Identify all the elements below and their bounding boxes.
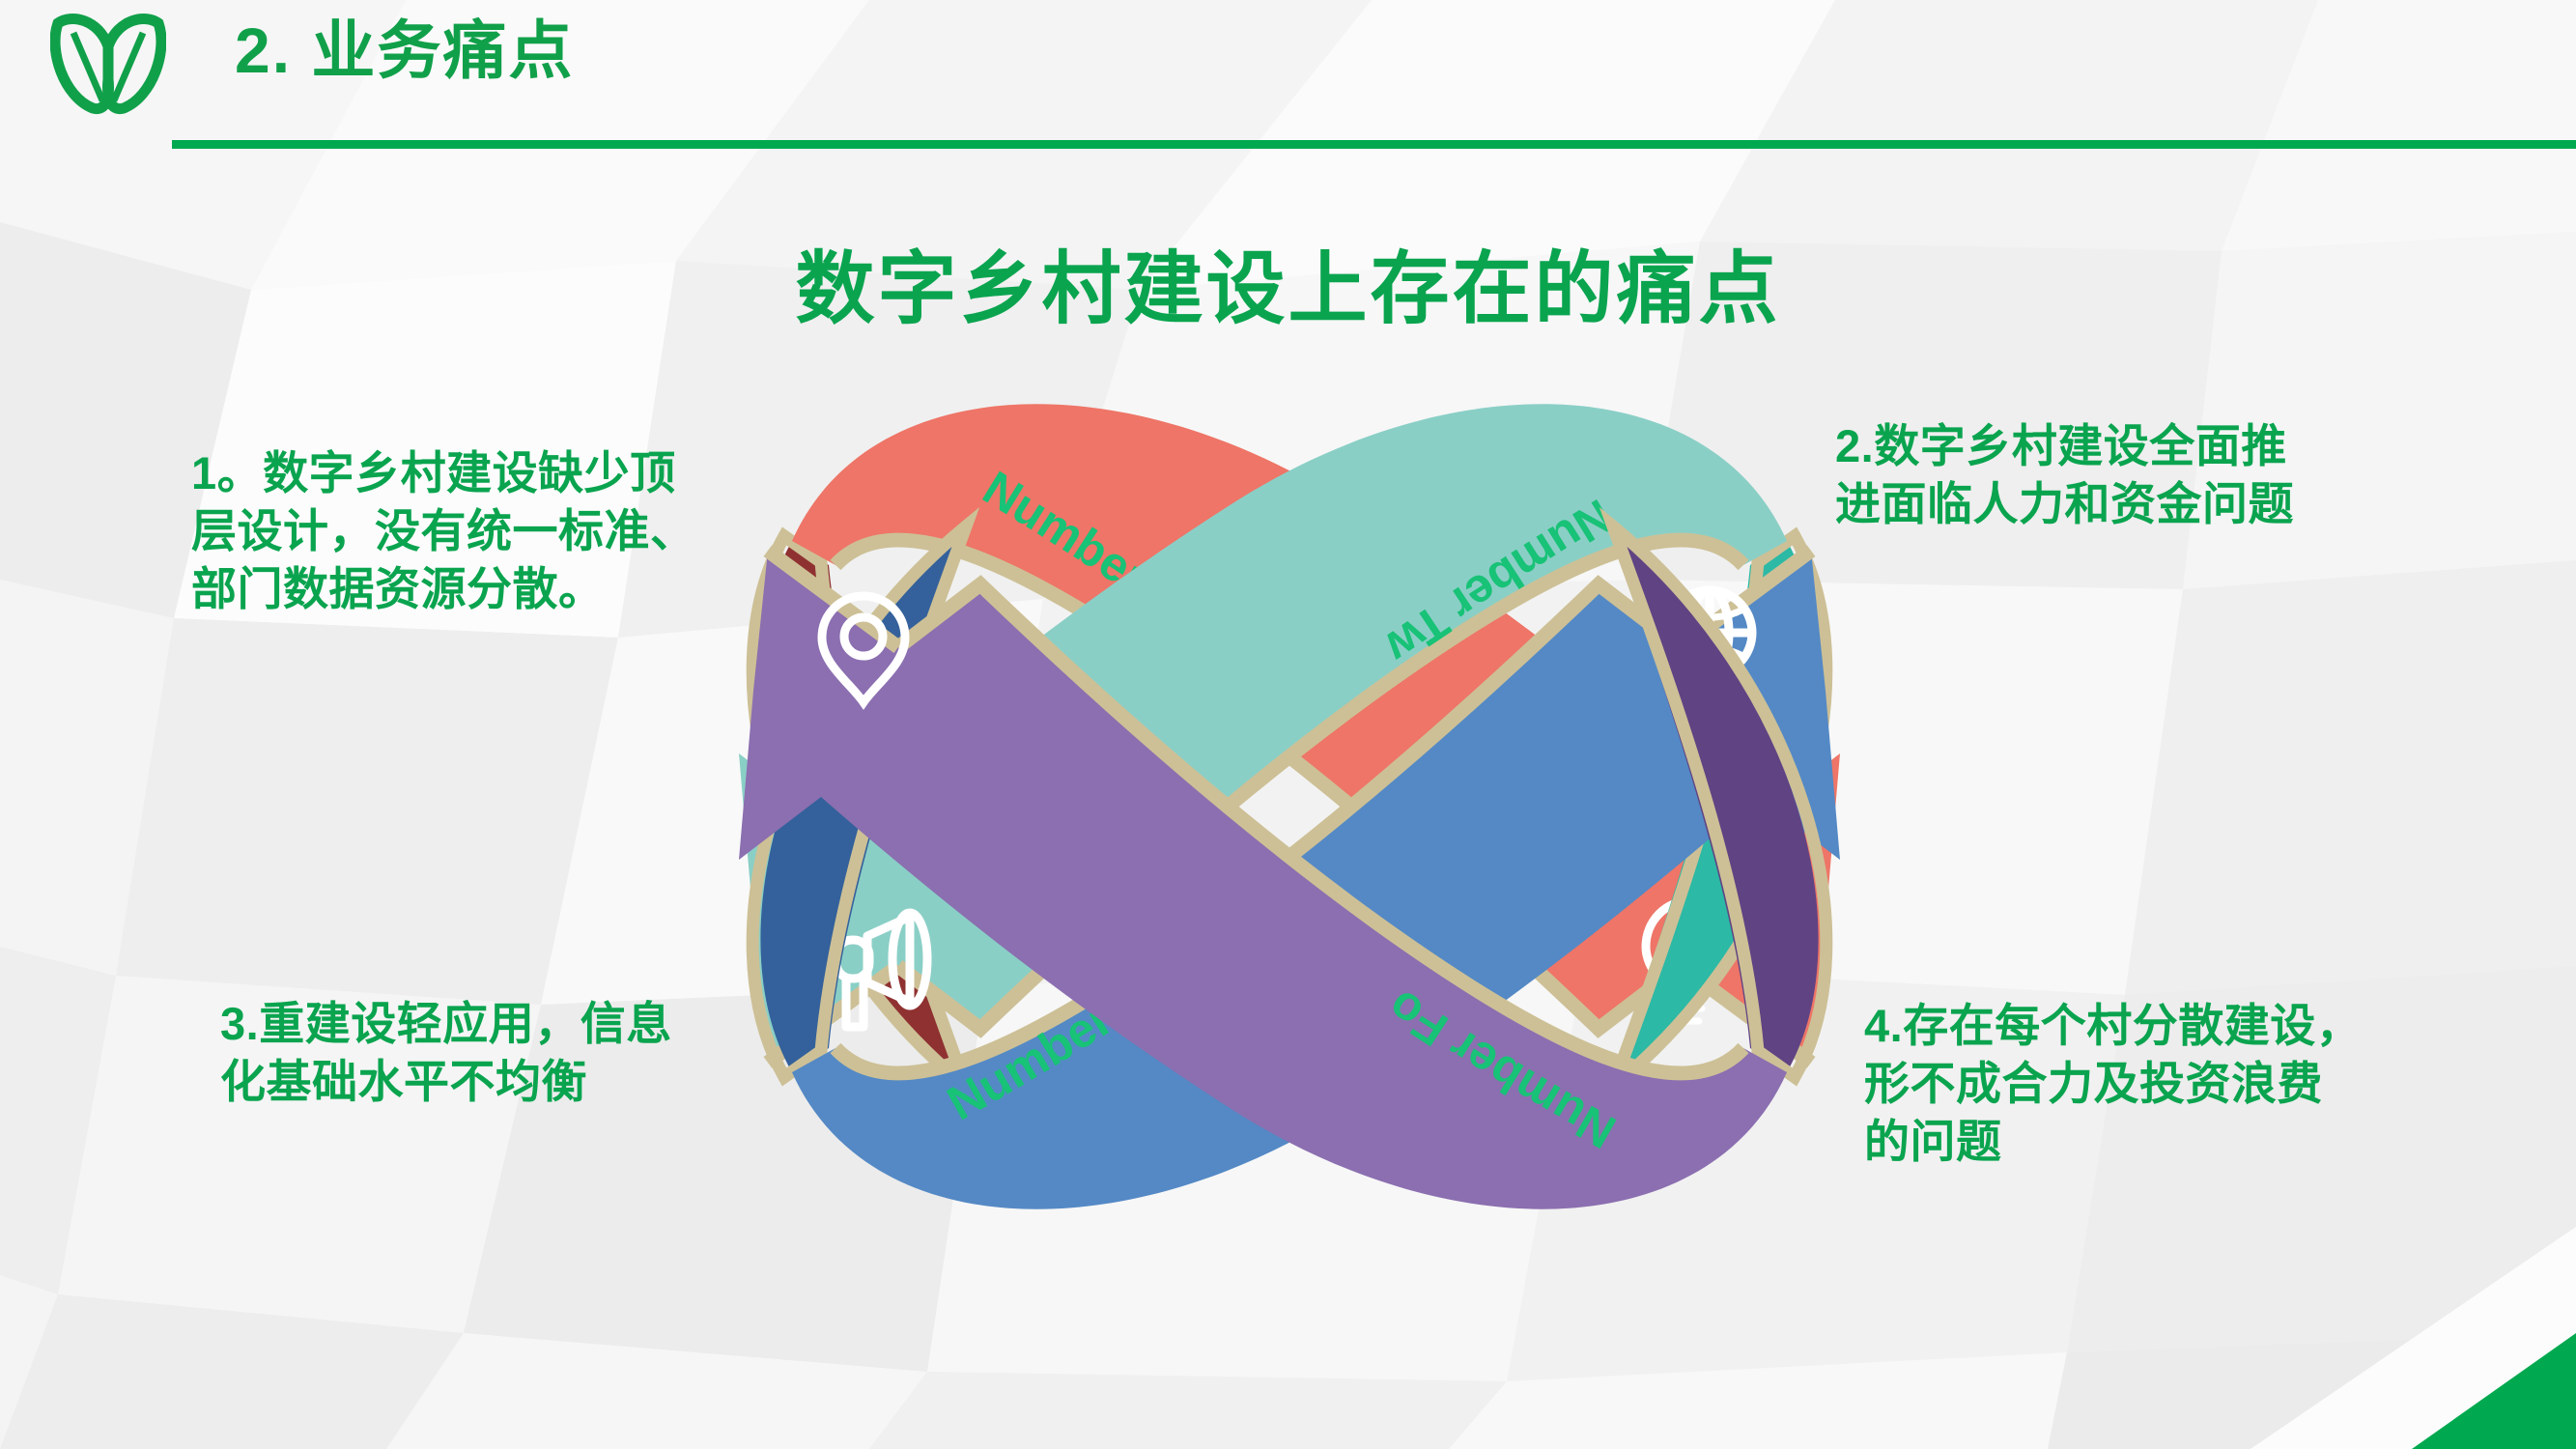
pain-point-4-line-3: 的问题: [1864, 1113, 2463, 1171]
pain-point-3: 3.重建设轻应用，信息 化基础水平不均衡: [193, 995, 753, 1111]
pain-point-3-line-2: 化基础水平不均衡: [193, 1053, 753, 1111]
pain-point-1-line-2: 层设计，没有统一标准、: [172, 502, 713, 560]
pain-point-2: 2.数字乡村建设全面推 进面临人力和资金问题: [1835, 417, 2434, 533]
pain-point-3-line-1: 3.重建设轻应用，信息: [193, 995, 753, 1053]
pain-point-2-line-2: 进面临人力和资金问题: [1835, 475, 2434, 533]
slide-header: 2. 业务痛点: [0, 0, 2576, 145]
pain-point-2-line-1: 2.数字乡村建设全面推: [1835, 417, 2434, 475]
main-heading: 数字乡村建设上存在的痛点: [0, 224, 2576, 339]
page-title: 2. 业务痛点: [235, 17, 574, 84]
header-divider: [172, 140, 2576, 149]
corner-accent-triangle: [2315, 1333, 2576, 1449]
pain-point-4: 4.存在每个村分散建设， 形不成合力及投资浪费 的问题: [1864, 997, 2463, 1171]
pain-point-4-line-2: 形不成合力及投资浪费: [1864, 1055, 2463, 1113]
pain-point-4-line-1: 4.存在每个村分散建设，: [1864, 997, 2463, 1055]
pain-point-1-line-1: 1。数字乡村建设缺少顶: [172, 444, 713, 502]
leaf-logo-icon: [50, 12, 166, 118]
four-arrow-diagram: Number One Number Two: [676, 386, 1903, 1227]
slide-canvas: 2. 业务痛点 数字乡村建设上存在的痛点 Number One: [0, 0, 2576, 1449]
pain-point-1-line-3: 部门数据资源分散。: [172, 560, 713, 618]
pain-point-1: 1。数字乡村建设缺少顶 层设计，没有统一标准、 部门数据资源分散。: [172, 444, 713, 618]
